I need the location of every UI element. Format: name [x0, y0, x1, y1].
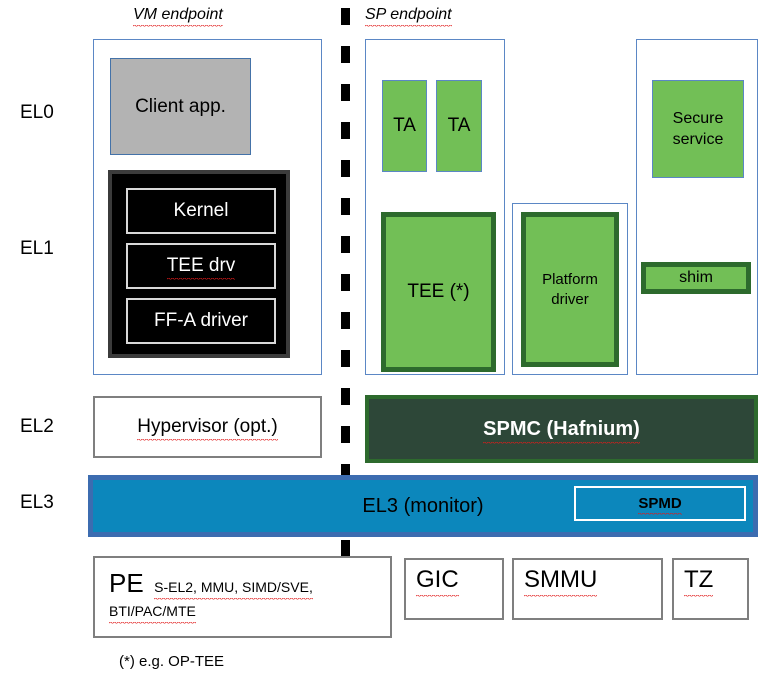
level-label-el0: EL0: [20, 102, 54, 124]
el3-monitor-bar[interactable]: EL3 (monitor) SPMD: [88, 475, 758, 537]
trusted-app-box-1[interactable]: TA: [382, 80, 427, 172]
ffa-driver-box[interactable]: FF-A driver: [126, 298, 276, 344]
secure-service-label-line2: service: [673, 129, 724, 150]
client-app-box[interactable]: Client app.: [110, 58, 251, 155]
gic-box[interactable]: GIC: [404, 558, 504, 620]
level-label-el2: EL2: [20, 416, 54, 438]
tz-label: TZ: [684, 566, 713, 594]
tee-label: TEE (*): [407, 281, 469, 303]
secure-service-box[interactable]: Secure service: [652, 80, 744, 178]
trusted-app-label-2: TA: [448, 115, 471, 137]
pe-detail-line1: S-EL2, MMU, SIMD/SVE,: [154, 577, 313, 597]
smmu-box[interactable]: SMMU: [512, 558, 663, 620]
trusted-app-label-1: TA: [393, 115, 416, 137]
level-label-el1: EL1: [20, 238, 54, 260]
footnote: (*) e.g. OP-TEE: [119, 653, 224, 670]
vm-endpoint-caption-text: VM endpoint: [133, 6, 223, 24]
sp-endpoint-caption: SP endpoint: [365, 6, 452, 24]
tee-box[interactable]: TEE (*): [381, 212, 496, 372]
tee-driver-label: TEE drv: [167, 255, 236, 277]
shim-box[interactable]: shim: [641, 262, 751, 294]
platform-driver-label-line1: Platform: [542, 270, 598, 290]
gic-label: GIC: [416, 566, 459, 594]
spmd-box[interactable]: SPMD: [574, 486, 746, 521]
kernel-stack-container: Kernel TEE drv FF-A driver: [108, 170, 290, 358]
vm-endpoint-caption: VM endpoint: [133, 6, 223, 24]
pe-text-row: PE S-EL2, MMU, SIMD/SVE,: [109, 568, 376, 599]
client-app-label: Client app.: [135, 96, 226, 118]
platform-driver-label-line2: driver: [551, 290, 589, 310]
pe-box[interactable]: PE S-EL2, MMU, SIMD/SVE, BTI/PAC/MTE: [93, 556, 392, 638]
tz-box[interactable]: TZ: [672, 558, 749, 620]
ffa-driver-label: FF-A driver: [154, 310, 248, 332]
spmc-label: SPMC (Hafnium): [483, 418, 640, 441]
hypervisor-box[interactable]: Hypervisor (opt.): [93, 396, 322, 458]
spmd-label: SPMD: [638, 495, 681, 512]
trusted-app-box-2[interactable]: TA: [436, 80, 482, 172]
platform-driver-box[interactable]: Platform driver: [521, 212, 619, 367]
tee-driver-box[interactable]: TEE drv: [126, 243, 276, 289]
spmc-box[interactable]: SPMC (Hafnium): [365, 395, 758, 463]
pe-detail-line2-wrap: BTI/PAC/MTE: [109, 601, 376, 621]
smmu-label: SMMU: [524, 566, 597, 594]
pe-title-label: PE: [109, 568, 144, 598]
level-label-el3: EL3: [20, 492, 54, 514]
kernel-box[interactable]: Kernel: [126, 188, 276, 234]
sp-endpoint-caption-text: SP endpoint: [365, 6, 452, 24]
el3-monitor-label: EL3 (monitor): [362, 495, 483, 518]
secure-service-label-line1: Secure: [673, 108, 724, 129]
hypervisor-label: Hypervisor (opt.): [137, 416, 277, 438]
pe-detail-line2: BTI/PAC/MTE: [109, 601, 196, 621]
kernel-label: Kernel: [174, 200, 229, 222]
shim-label: shim: [679, 269, 713, 287]
